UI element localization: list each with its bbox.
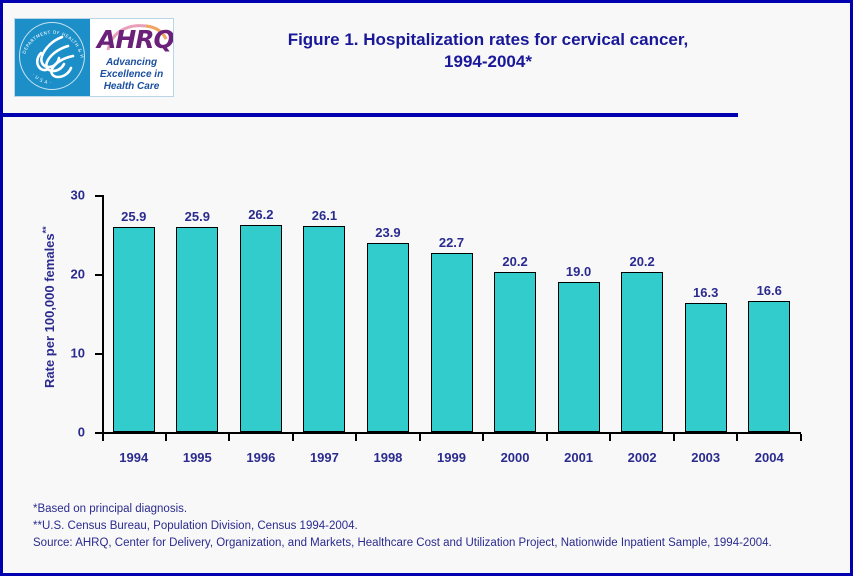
bar-1996: 26.2 [240, 225, 282, 432]
y-axis-line [102, 195, 104, 435]
bar-2004: 16.6 [748, 301, 790, 432]
hhs-seal-icon: DEPARTMENT OF HEALTH & HUMAN SERVICES · … [15, 19, 90, 96]
ahrq-tagline: Advancing Excellence in Health Care [90, 57, 173, 93]
x-axis-tick [228, 434, 230, 441]
hhs-eagle-icon [28, 33, 80, 83]
bar-1995: 25.9 [176, 227, 218, 432]
bar-value-label: 23.9 [375, 225, 400, 240]
footnote-principal-diagnosis: *Based on principal diagnosis. [33, 501, 823, 518]
bar-1998: 23.9 [367, 243, 409, 432]
bar-1994: 25.9 [113, 227, 155, 432]
bar-value-label: 16.3 [693, 285, 718, 300]
footnote-census-source: **U.S. Census Bureau, Population Divisio… [33, 518, 823, 535]
figure-title-line-2: 1994-2004* [188, 51, 788, 73]
y-axis-tick-label: 0 [78, 425, 85, 440]
bar-value-label: 26.1 [312, 208, 337, 223]
x-axis-tick [609, 434, 611, 441]
ahrq-logo: DEPARTMENT OF HEALTH & HUMAN SERVICES · … [14, 18, 174, 97]
bar-1999: 22.7 [431, 253, 473, 432]
footnote-data-source: Source: AHRQ, Center for Delivery, Organ… [33, 535, 823, 552]
figure-footnotes: *Based on principal diagnosis. **U.S. Ce… [33, 501, 823, 552]
y-axis-tick-label: 20 [71, 267, 85, 282]
x-axis-category-label: 1995 [183, 450, 212, 465]
x-axis-category-label: 2002 [628, 450, 657, 465]
x-axis-category-label: 2004 [755, 450, 784, 465]
bar-value-label: 20.2 [629, 254, 654, 269]
ahrq-tagline-line-2: Excellence in [90, 69, 173, 81]
ahrq-wordmark-block: AHRQ Advancing Excellence in Health Care [90, 19, 173, 96]
x-axis-line [102, 432, 801, 434]
bar-value-label: 25.9 [121, 209, 146, 224]
bar-value-label: 25.9 [185, 209, 210, 224]
y-axis-tick: 20 [95, 274, 102, 276]
ahrq-tagline-line-3: Health Care [90, 81, 173, 93]
x-axis-category-label: 1997 [310, 450, 339, 465]
bar-value-label: 26.2 [248, 207, 273, 222]
bar-value-label: 16.6 [757, 283, 782, 298]
y-axis-tick: 0 [95, 432, 102, 434]
bar-value-label: 22.7 [439, 235, 464, 250]
figure-title: Figure 1. Hospitalization rates for cerv… [188, 29, 788, 73]
y-axis-label-footnote-marker: ** [41, 226, 51, 233]
bar-1997: 26.1 [303, 226, 345, 432]
x-axis-category-label: 1996 [246, 450, 275, 465]
figure-header: DEPARTMENT OF HEALTH & HUMAN SERVICES · … [3, 3, 850, 108]
x-axis-tick [800, 434, 802, 441]
y-axis-tick: 30 [95, 195, 102, 197]
y-axis-label-text: Rate per 100,000 females [42, 233, 57, 388]
x-axis-tick [673, 434, 675, 441]
x-axis-tick [546, 434, 548, 441]
x-axis-category-label: 1994 [119, 450, 148, 465]
bar-value-label: 19.0 [566, 264, 591, 279]
x-axis-category-label: 1998 [373, 450, 402, 465]
figure-page: DEPARTMENT OF HEALTH & HUMAN SERVICES · … [0, 0, 853, 576]
bar-chart: Rate per 100,000 females** 0102030 25.91… [3, 121, 850, 491]
x-axis-tick [292, 434, 294, 441]
bar-2002: 20.2 [621, 272, 663, 432]
x-axis-tick [419, 434, 421, 441]
x-axis-category-label: 2003 [691, 450, 720, 465]
ahrq-wordmark-text: AHRQ [97, 27, 173, 52]
y-axis-tick: 10 [95, 353, 102, 355]
x-axis-category-label: 2001 [564, 450, 593, 465]
y-axis-tick-label: 30 [71, 188, 85, 203]
ahrq-tagline-line-1: Advancing [90, 57, 173, 69]
x-axis-tick [165, 434, 167, 441]
y-axis-tick-label: 10 [71, 346, 85, 361]
bar-2000: 20.2 [494, 272, 536, 432]
plot-area: 0102030 25.9199425.9199526.2199626.11997… [102, 195, 801, 434]
header-divider [3, 113, 738, 117]
x-axis-category-label: 1999 [437, 450, 466, 465]
x-axis-tick [482, 434, 484, 441]
bar-2003: 16.3 [685, 303, 727, 432]
x-axis-category-label: 2000 [501, 450, 530, 465]
bar-2001: 19.0 [558, 282, 600, 432]
x-axis-tick [355, 434, 357, 441]
figure-title-line-1: Figure 1. Hospitalization rates for cerv… [188, 29, 788, 51]
bar-value-label: 20.2 [502, 254, 527, 269]
x-axis-origin-tick [102, 434, 104, 441]
y-axis-label: Rate per 100,000 females** [41, 177, 57, 437]
x-axis-tick [736, 434, 738, 441]
